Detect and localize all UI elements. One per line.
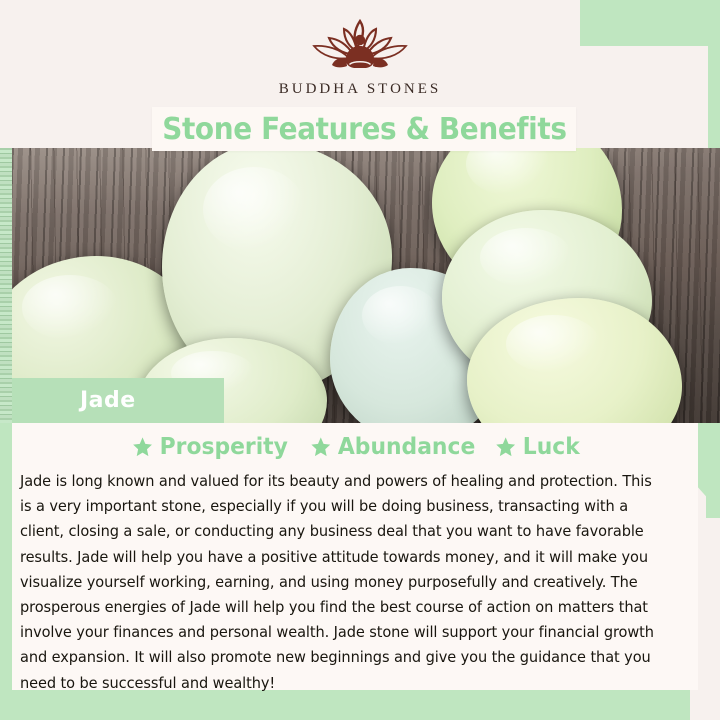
star-icon (496, 436, 517, 458)
stone-name: Jade (80, 388, 136, 413)
benefits-list: Prosperity Abundance Luck (12, 428, 698, 466)
lotus-meditation-icon (296, 13, 424, 77)
stone-name-bar: Jade (12, 378, 224, 423)
stone-description: Jade is long known and valued for its be… (20, 469, 667, 696)
star-icon (310, 436, 331, 458)
title-banner: Stone Features & Benefits (152, 107, 576, 151)
benefit-label: Prosperity (159, 434, 287, 460)
benefit-label: Abundance (338, 434, 475, 460)
brand-header: BUDDHA STONES (0, 0, 720, 110)
benefit-item: Luck (496, 434, 581, 460)
benefit-item: Abundance (310, 434, 475, 460)
star-icon (132, 436, 153, 458)
benefit-item: Prosperity (132, 434, 288, 460)
decor-right-green-wedge-lower (706, 423, 720, 518)
page-title: Stone Features & Benefits (162, 112, 566, 147)
brand-logo: BUDDHA STONES (279, 13, 442, 98)
content-card: Prosperity Abundance Luck Jade is long k… (12, 423, 698, 690)
brand-name: BUDDHA STONES (279, 81, 442, 98)
stone-info-poster: BUDDHA STONES Stone Features & Benefits … (0, 0, 720, 720)
benefit-label: Luck (523, 434, 580, 460)
decor-left-green-texture (0, 148, 12, 423)
